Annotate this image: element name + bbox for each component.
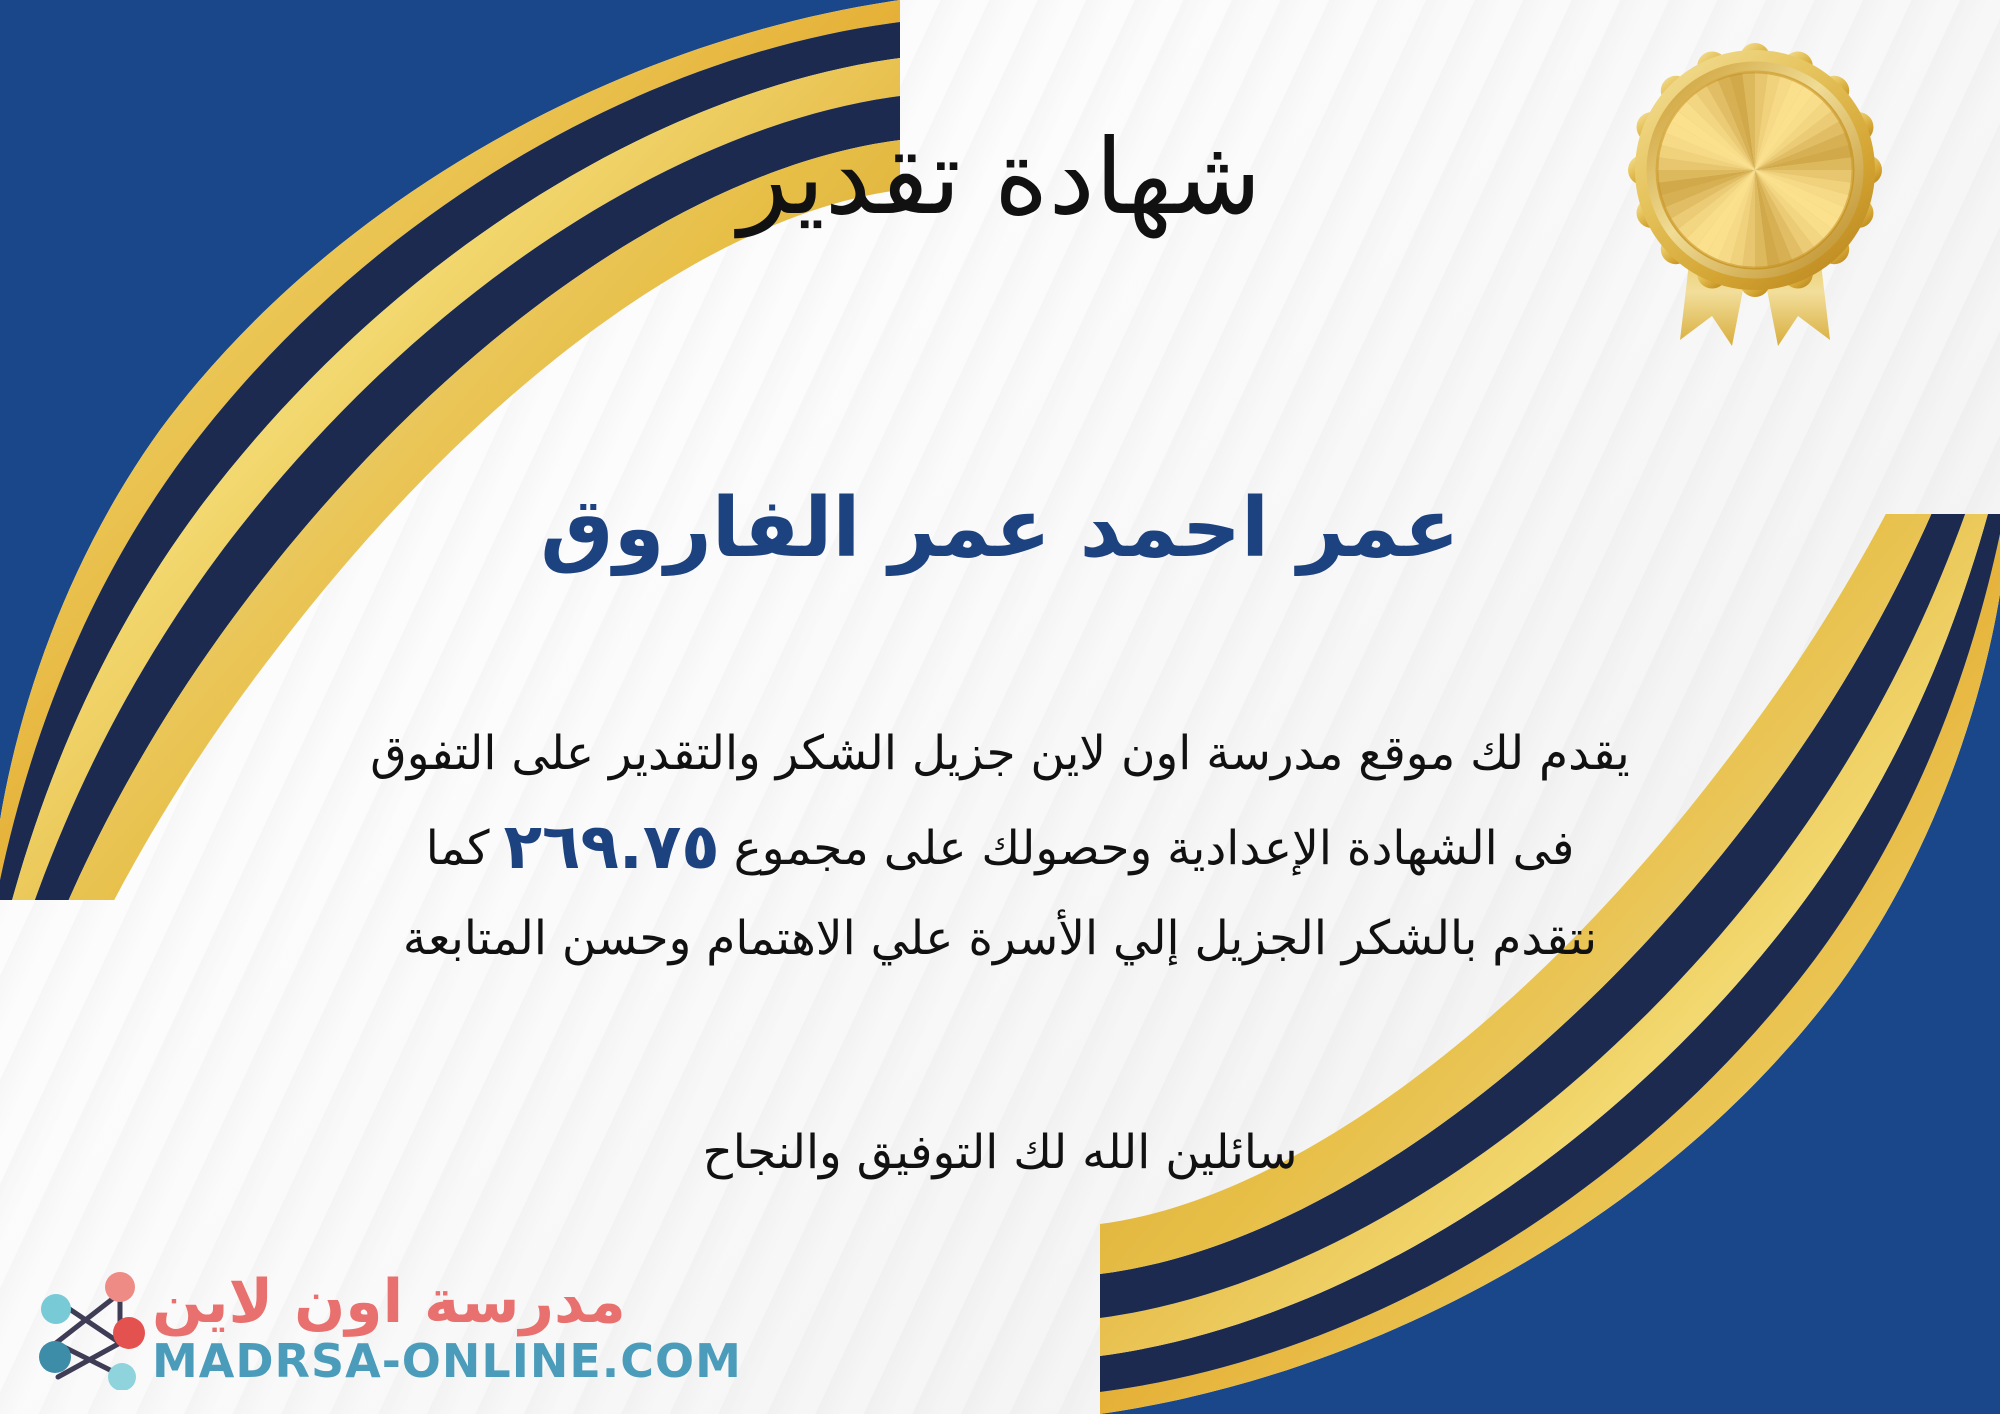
body-line-3: نتقدم بالشكر الجزيل إلي الأسرة علي الاهت… (403, 911, 1597, 966)
body-line-1: يقدم لك موقع مدرسة اون لاين جزيل الشكر و… (370, 726, 1629, 781)
network-nodes-icon (28, 1265, 146, 1390)
brand-name-arabic: مدرسة اون لاين (152, 1272, 626, 1332)
recipient-name: عمر احمد عمر الفاروق (0, 480, 2000, 578)
brand-logo[interactable]: مدرسة اون لاين MADRSA-ONLINE.COM (28, 1265, 742, 1390)
gold-medal-seal-icon (1620, 40, 1890, 350)
body-line-2-suffix: كما (426, 821, 490, 876)
body-paragraph: يقدم لك موقع مدرسة اون لاين جزيل الشكر و… (60, 715, 1940, 979)
body-line-2-prefix: فى الشهادة الإعدادية وحصولك على مجموع (734, 821, 1575, 876)
brand-domain: MADRSA-ONLINE.COM (152, 1338, 742, 1384)
certificate-page: شهادة تقدير عمر احمد عمر الفاروق يقدم لك… (0, 0, 2000, 1414)
grade-total-value: ٢٦٩.٧٥ (490, 810, 734, 883)
closing-line: سائلين الله لك التوفيق والنجاح (0, 1125, 2000, 1180)
